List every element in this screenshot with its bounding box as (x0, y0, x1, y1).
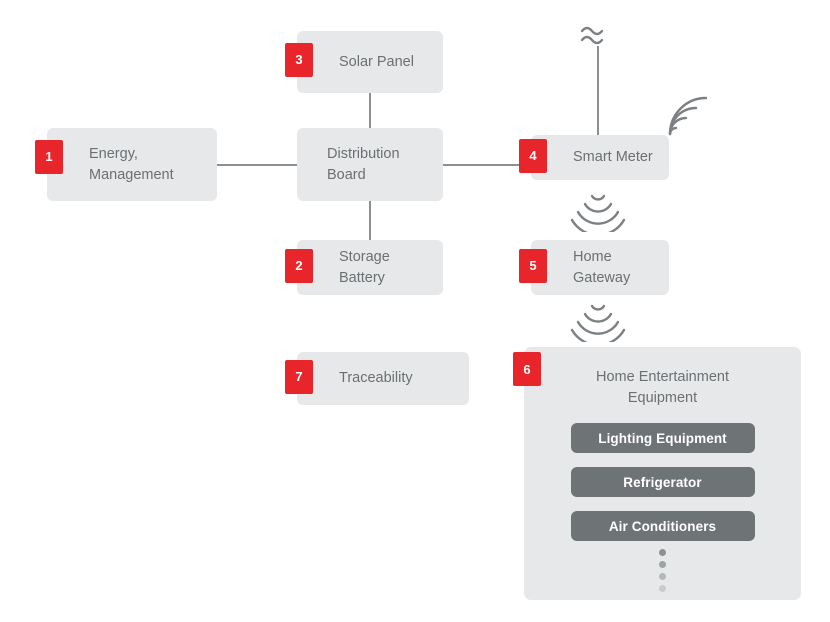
dot-4 (659, 585, 666, 592)
node-label-energy-management: Energy, Management (47, 144, 186, 185)
node-traceability[interactable]: 7 Traceability (297, 352, 469, 405)
ac-wave-icon (578, 22, 618, 48)
dot-1 (659, 549, 666, 556)
connector-grid-to-smartmeter (597, 46, 599, 135)
device-pill-lighting-equipment[interactable]: Lighting Equipment (571, 423, 755, 453)
diagram-canvas: 1 Energy, Management 3 Solar Panel Distr… (0, 0, 830, 622)
dot-3 (659, 573, 666, 580)
badge-number-3: 3 (285, 43, 313, 77)
badge-number-5: 5 (519, 249, 547, 283)
node-label-home-gateway: Home Gateway (531, 247, 642, 288)
node-distribution-board[interactable]: Distribution Board (297, 128, 443, 201)
node-solar-panel[interactable]: 3 Solar Panel (297, 31, 443, 93)
signal-down-meter-icon (570, 192, 626, 232)
badge-number-4: 4 (519, 139, 547, 173)
badge-number-7: 7 (285, 360, 313, 394)
connector-distribution-to-smartmeter (443, 164, 531, 166)
connector-energy-to-distribution (213, 164, 298, 166)
node-label-distribution-board: Distribution Board (297, 144, 412, 185)
wireless-signal-icon (662, 86, 718, 142)
node-label-solar-panel: Solar Panel (297, 52, 426, 73)
badge-number-2: 2 (285, 249, 313, 283)
panel-home-entertainment-equipment[interactable]: 6 Home Entertainment Equipment Lighting … (524, 347, 801, 600)
node-storage-battery[interactable]: 2 Storage Battery (297, 240, 443, 295)
more-devices-dots-icon (524, 549, 801, 592)
node-label-traceability: Traceability (297, 368, 425, 389)
panel-title-home-entertainment: Home Entertainment Equipment (524, 347, 801, 409)
badge-number-6: 6 (513, 352, 541, 386)
node-smart-meter[interactable]: 4 Smart Meter (531, 135, 669, 180)
node-energy-management[interactable]: 1 Energy, Management (47, 128, 217, 201)
device-pill-refrigerator[interactable]: Refrigerator (571, 467, 755, 497)
node-home-gateway[interactable]: 5 Home Gateway (531, 240, 669, 295)
device-pill-list: Lighting Equipment Refrigerator Air Cond… (524, 423, 801, 541)
dot-2 (659, 561, 666, 568)
node-label-smart-meter: Smart Meter (531, 147, 665, 168)
device-pill-air-conditioners[interactable]: Air Conditioners (571, 511, 755, 541)
badge-number-1: 1 (35, 140, 63, 174)
connector-distribution-to-battery (369, 196, 371, 240)
signal-down-gateway-icon (570, 302, 626, 342)
